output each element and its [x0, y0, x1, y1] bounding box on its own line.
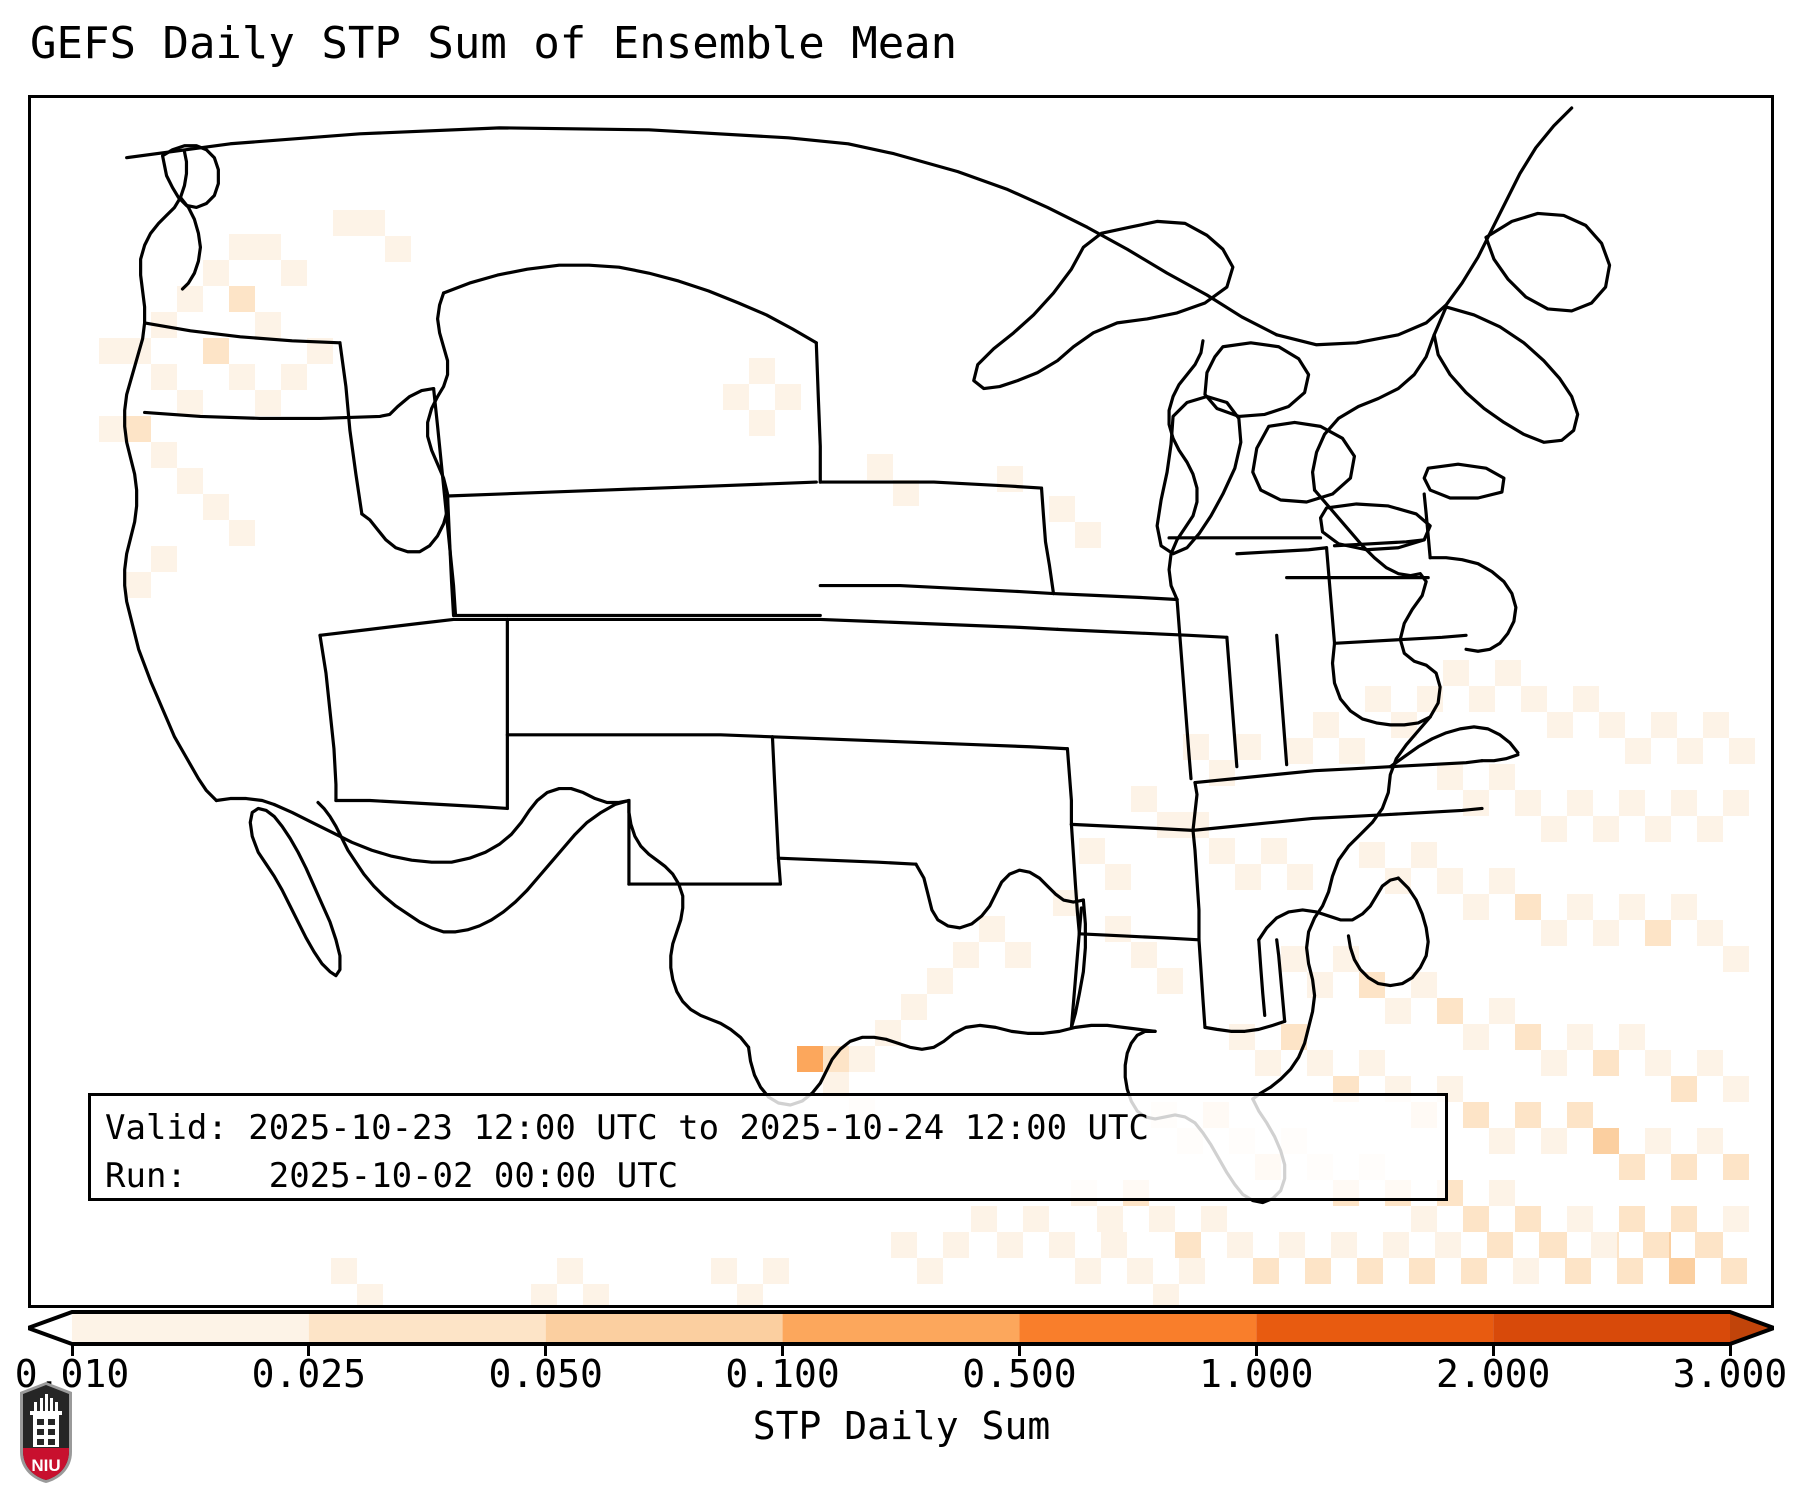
- colorbar-tick-label: 0.100: [725, 1352, 839, 1396]
- ms-ar-tn-border: [1193, 830, 1199, 939]
- az-nm-mex-border: [336, 801, 507, 809]
- colorbar-tick-mark: [1255, 1342, 1258, 1356]
- ms-al-border: [1199, 940, 1205, 1028]
- nc-va-tidewater: [1482, 755, 1518, 761]
- nm-tx-border: [772, 737, 780, 884]
- il-in-border: [1227, 637, 1237, 766]
- ar-la-border: [1079, 934, 1199, 940]
- colorbar-segment: [1019, 1313, 1256, 1343]
- colorbar-tick-label: 0.500: [962, 1352, 1076, 1396]
- il-mo-border: [1177, 600, 1191, 779]
- annotation-textbox: Valid: 2025-10-23 12:00 UTC to 2025-10-2…: [88, 1093, 1448, 1201]
- al-fl-border: [1205, 1021, 1285, 1031]
- lake-michigan-north: [1205, 343, 1309, 417]
- tn-mo-border: [1193, 783, 1197, 831]
- al-ga-border: [1259, 940, 1265, 1016]
- wi-ia-mn-border: [1169, 341, 1203, 600]
- colorbar-segment: [309, 1313, 546, 1343]
- colorbar-tick-mark: [544, 1342, 547, 1356]
- ar-ok-border: [1071, 824, 1079, 933]
- tx-ok-red-river: [916, 864, 1083, 928]
- page-title: GEFS Daily STP Sum of Ensemble Mean: [30, 18, 957, 69]
- canada-quebec-border: [1277, 108, 1572, 345]
- valid-time-text: Valid: 2025-10-23 12:00 UTC to 2025-10-2…: [105, 1104, 1431, 1152]
- vancouver-island: [163, 146, 219, 208]
- gulf-st-lawrence: [1486, 213, 1610, 311]
- nd-sd-border: [820, 482, 1041, 488]
- colorbar-tick-mark: [1729, 1342, 1732, 1356]
- colorbar: [28, 1308, 1774, 1348]
- ok-tx-panhandle: [778, 858, 916, 864]
- baja-california: [250, 808, 340, 975]
- colorbar-segment: [72, 1313, 309, 1343]
- colorbar-axis-label: STP Daily Sum: [0, 1404, 1803, 1448]
- us-mexico-border-west: [216, 799, 274, 805]
- puget-sound: [180, 198, 200, 290]
- ia-mo-border: [1057, 629, 1226, 637]
- nv-az-ut-border: [320, 619, 454, 635]
- atlantic-coast: [1253, 490, 1440, 1099]
- or-ca-nv-border: [145, 389, 434, 419]
- new-england-coast: [1313, 335, 1435, 490]
- colorbar-tick-mark: [781, 1342, 784, 1356]
- nd-mt-border: [816, 343, 820, 482]
- colorbar-tick-label: 0.025: [252, 1352, 366, 1396]
- il-mi-lake-border: [1237, 548, 1327, 554]
- tn-ms-al-ga-border: [1193, 814, 1390, 830]
- colorbar-tick-mark: [1018, 1342, 1021, 1356]
- colorbar-tick-mark: [71, 1342, 74, 1356]
- maine-nova-scotia-coast: [1434, 307, 1578, 442]
- mt-wy-nd-sd-border: [448, 482, 817, 496]
- colorbar-tick-labels: 0.0100.0250.0500.1000.5001.0002.0003.000: [0, 1352, 1803, 1402]
- wa-or-border: [145, 323, 340, 343]
- pacific-coast: [125, 152, 217, 801]
- colorbar-segment: [1493, 1313, 1730, 1343]
- ga-sc-nc-border: [1390, 808, 1482, 814]
- colorbar-tick-label: 3.000: [1673, 1352, 1787, 1396]
- co-nm-ok-border: [507, 735, 772, 737]
- us-mexico-border: [274, 789, 629, 863]
- colorbar-segment: [1256, 1313, 1493, 1343]
- run-time-text: Run: 2025-10-02 00:00 UTC: [105, 1152, 1431, 1200]
- tn-nc-border: [1390, 761, 1482, 767]
- lake-huron: [1253, 422, 1355, 502]
- sc-nc-coast: [1348, 878, 1428, 985]
- colorbar-tick-mark: [1492, 1342, 1495, 1356]
- ne-ks-co-border: [820, 619, 1057, 629]
- colorbar-tick-label: 1.000: [1199, 1352, 1313, 1396]
- mn-ia-border: [1053, 594, 1177, 600]
- mn-sd-border: [1042, 488, 1054, 593]
- or-id-border: [340, 343, 362, 514]
- colorbar-tick-mark: [307, 1342, 310, 1356]
- nv-ca-az-border: [320, 635, 336, 800]
- colorbar-swatches: [28, 1308, 1774, 1348]
- wv-va-border: [1333, 643, 1431, 725]
- niu-logo: NIU: [16, 1378, 76, 1486]
- oh-pa-wv-border: [1327, 548, 1335, 644]
- colorbar-segment: [783, 1313, 1020, 1343]
- ga-fl-border: [1277, 940, 1285, 1022]
- mo-ar-border: [1071, 824, 1193, 830]
- colorbar-segment: [546, 1313, 783, 1343]
- logo-text: NIU: [31, 1456, 60, 1475]
- mexico-pacific-coast: [318, 801, 629, 932]
- ks-ok-border: [772, 737, 1067, 749]
- map-plot-area: Valid: 2025-10-23 12:00 UTC to 2025-10-2…: [28, 95, 1774, 1308]
- sd-ne-border: [820, 586, 1053, 594]
- colorbar-over-arrow: [1730, 1312, 1774, 1344]
- lake-ontario: [1424, 464, 1504, 498]
- mexico-gulf-coast: [629, 801, 749, 1048]
- mt-canada-inner: [444, 265, 817, 343]
- colorbar-under-arrow: [28, 1312, 72, 1344]
- id-mt-wy-border: [362, 293, 448, 552]
- colorbar-tick-label: 2.000: [1436, 1352, 1550, 1396]
- nv-ut-border: [434, 389, 456, 616]
- ky-tn-border: [1195, 767, 1390, 783]
- colorbar-tick-label: 0.050: [489, 1352, 603, 1396]
- mo-ks-ok-border: [1067, 749, 1071, 825]
- in-oh-border: [1277, 635, 1287, 764]
